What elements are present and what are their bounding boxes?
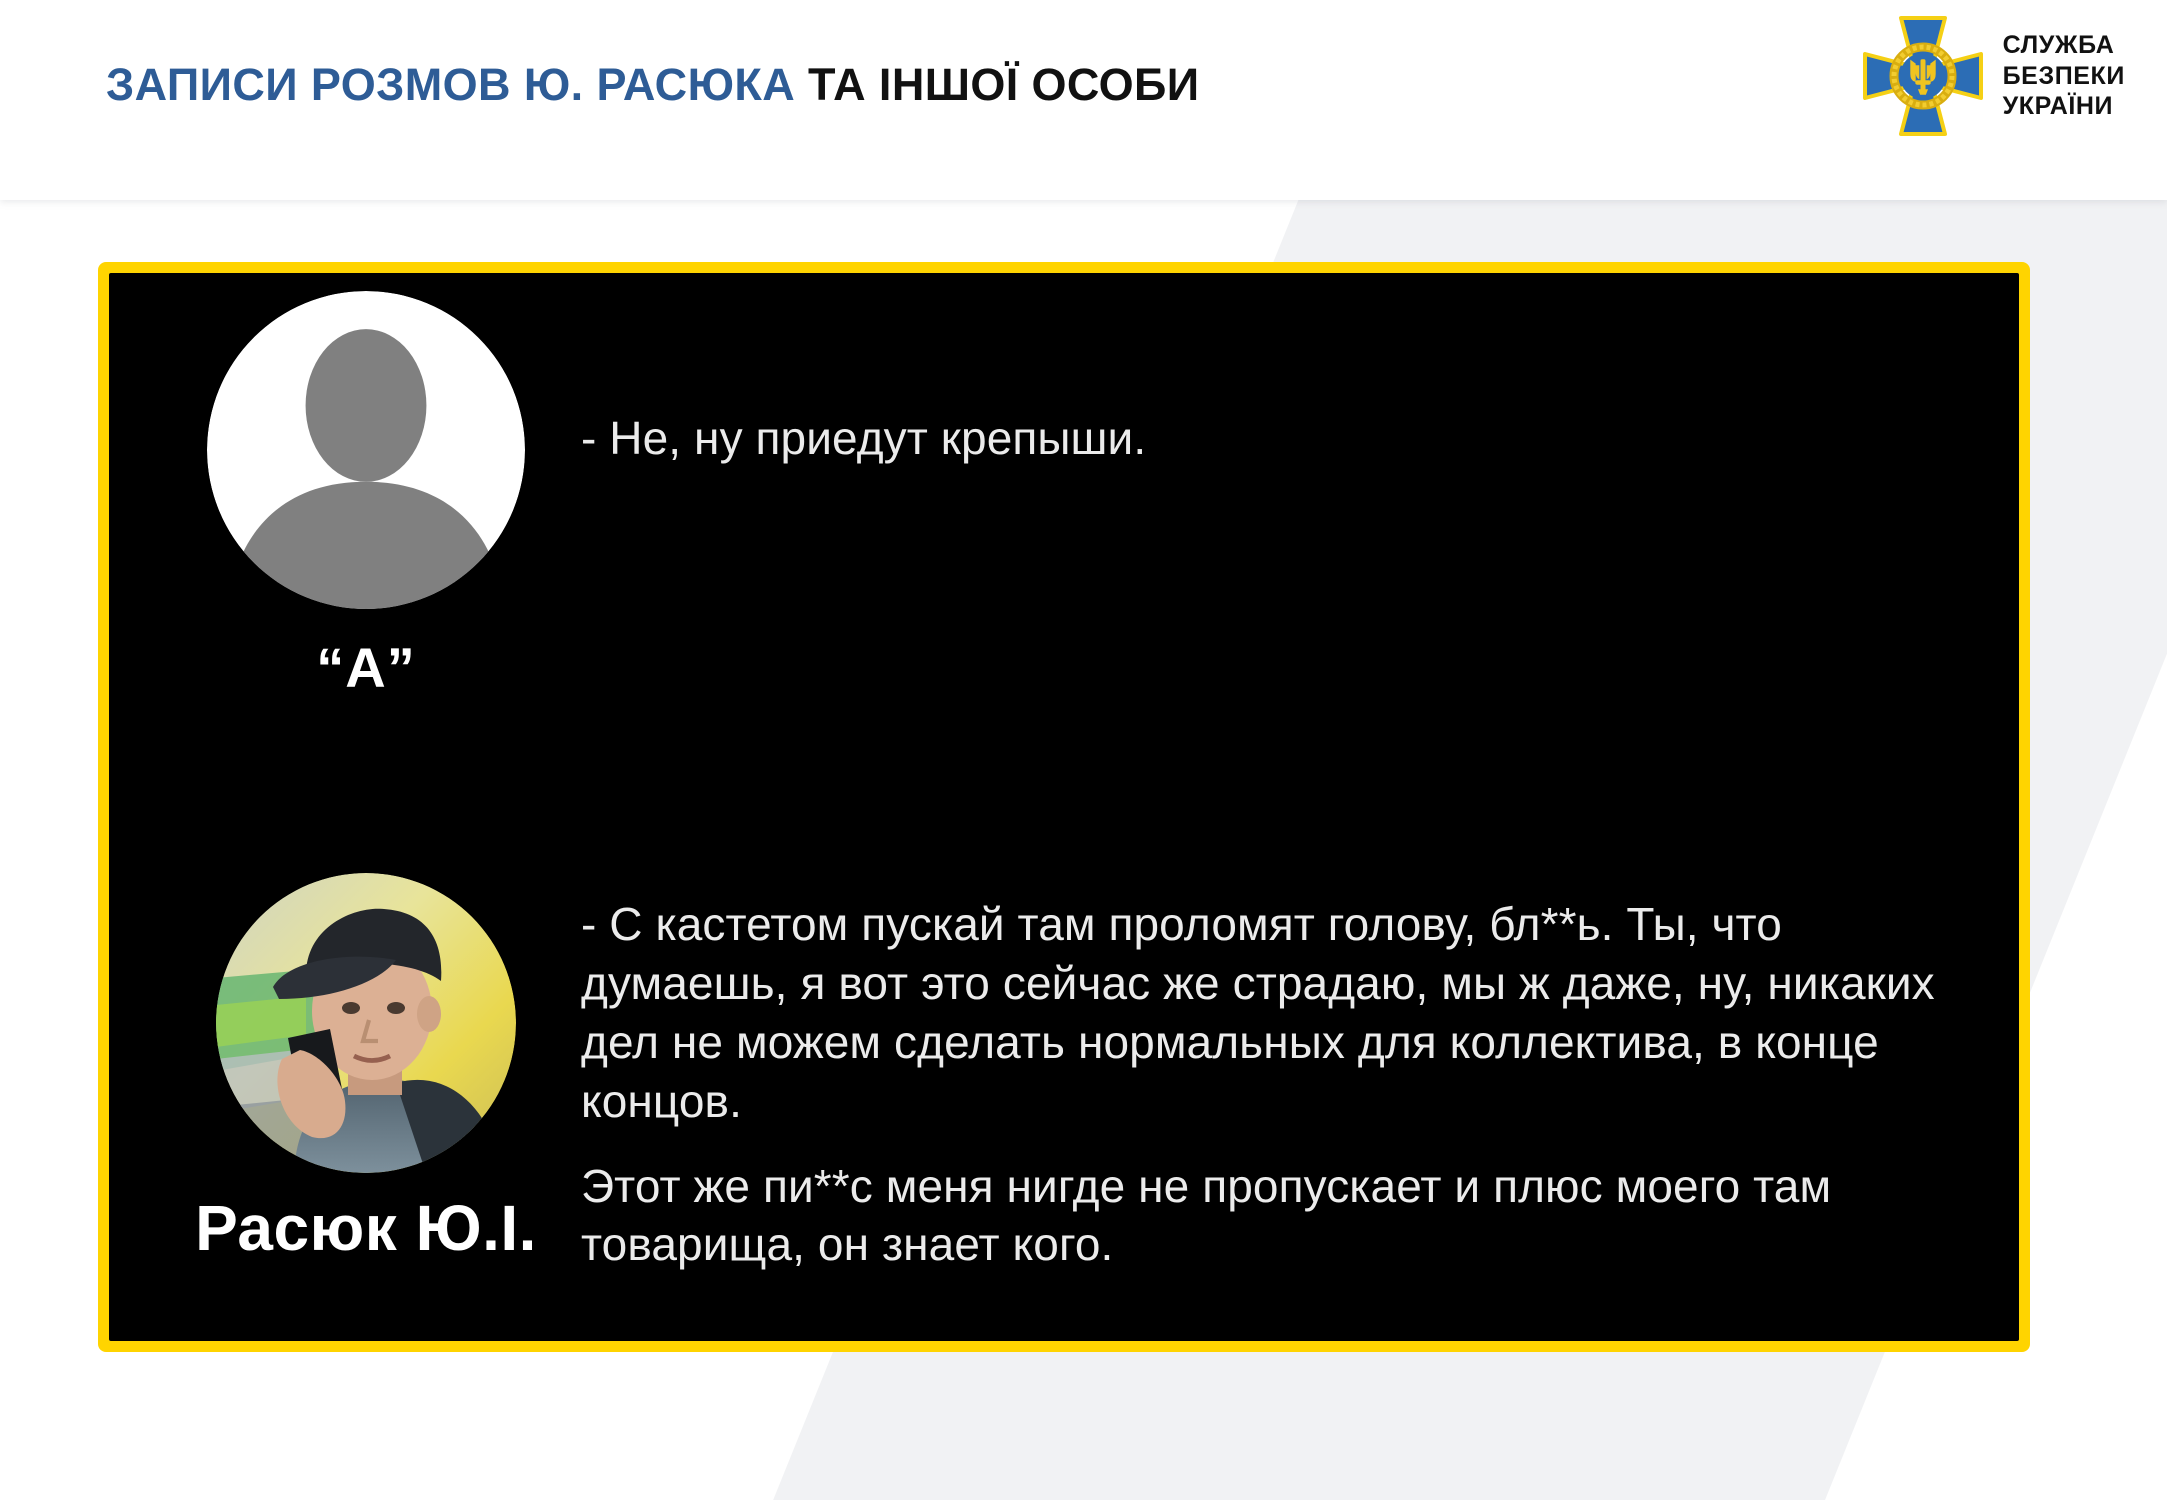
dialogue-text-a: - Не, ну приедут крепыши.	[581, 291, 1881, 700]
speaker-block-a: “А”	[151, 291, 581, 700]
speaker-name-a: “А”	[316, 635, 415, 700]
logo-line-1: СЛУЖБА	[2003, 30, 2125, 61]
anonymous-person-icon	[207, 291, 525, 609]
speaker-block-rasyuk: Расюк Ю.І.	[151, 873, 581, 1274]
avatar-anonymous	[207, 291, 525, 609]
speaker-name-rasyuk: Расюк Ю.І.	[195, 1191, 537, 1265]
logo-line-3: УКРАЇНИ	[2003, 91, 2125, 122]
man-on-phone-photo-icon	[216, 873, 516, 1173]
page-header: ЗАПИСИ РОЗМОВ Ю. РАСЮКА ТА ІНШОЇ ОСОБИ	[0, 0, 2167, 200]
dialogue-text-rasyuk: - С кастетом пускай там проломят голову,…	[581, 873, 1971, 1274]
evidence-panel-frame: “А” - Не, ну приедут крепыши.	[98, 262, 2030, 1352]
sbu-logo: СЛУЖБА БЕЗПЕКИ УКРАЇНИ	[1861, 14, 2125, 138]
page-title-secondary: ТА ІНШОЇ ОСОБИ	[795, 59, 1199, 110]
page-title-primary: ЗАПИСИ РОЗМОВ Ю. РАСЮКА	[106, 59, 795, 110]
avatar-rasyuk-photo	[216, 873, 516, 1173]
sbu-cross-emblem-icon	[1861, 14, 1985, 138]
dialogue-row: “А” - Не, ну приедут крепыши.	[151, 291, 1881, 700]
sbu-logo-text: СЛУЖБА БЕЗПЕКИ УКРАЇНИ	[2003, 30, 2125, 122]
dialogue-paragraph: Этот же пи**с меня нигде не пропускает и…	[581, 1157, 1971, 1275]
evidence-panel: “А” - Не, ну приедут крепыши.	[109, 273, 2019, 1341]
dialogue-paragraph: - Не, ну приедут крепыши.	[581, 409, 1881, 468]
dialogue-paragraph: - С кастетом пускай там проломят голову,…	[581, 895, 1971, 1131]
dialogue-row: Расюк Ю.І. - С кастетом пускай там проло…	[151, 873, 1971, 1274]
logo-line-2: БЕЗПЕКИ	[2003, 61, 2125, 92]
page-title: ЗАПИСИ РОЗМОВ Ю. РАСЮКА ТА ІНШОЇ ОСОБИ	[106, 62, 1200, 107]
